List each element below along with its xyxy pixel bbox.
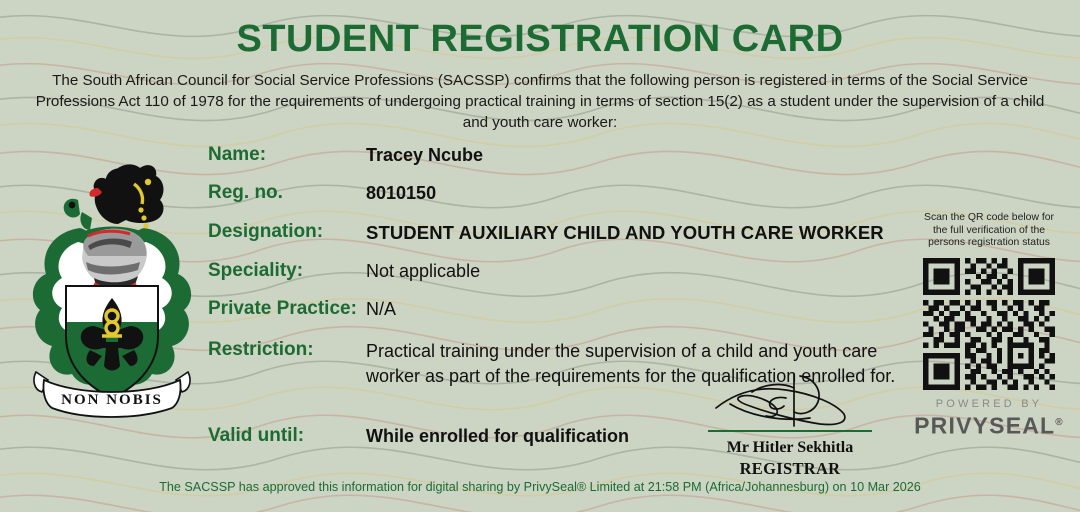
handwritten-signature-icon bbox=[690, 372, 890, 430]
signature-block: Mr Hitler Sekhitla REGISTRAR bbox=[690, 372, 890, 479]
field-value-name: Tracey Ncube bbox=[366, 145, 483, 166]
privyseal-wordmark: PRIVYSEAL bbox=[914, 412, 1055, 438]
registrar-name: Mr Hitler Sekhitla bbox=[690, 438, 890, 458]
footer-note: The SACSSP has approved this information… bbox=[0, 480, 1080, 494]
privyseal-logo: PRIVYSEAL® bbox=[905, 410, 1073, 439]
field-value-private-practice: N/A bbox=[366, 299, 396, 320]
field-label-name: Name: bbox=[208, 144, 266, 166]
qr-caption-line-3: persons registration status bbox=[910, 237, 1068, 250]
qr-code[interactable] bbox=[923, 258, 1055, 390]
field-row-designation: Designation: STUDENT AUXILIARY CHILD AND… bbox=[208, 221, 948, 260]
field-row-name: Name: Tracey Ncube bbox=[208, 144, 948, 182]
field-value-designation: STUDENT AUXILIARY CHILD AND YOUTH CARE W… bbox=[366, 222, 884, 244]
qr-verification-panel: Scan the QR code below for the full veri… bbox=[905, 212, 1073, 438]
qr-caption-line-2: the full verification of the bbox=[910, 225, 1068, 238]
signature-line bbox=[708, 430, 872, 432]
field-label-valid-until: Valid until: bbox=[208, 425, 304, 447]
field-row-speciality: Speciality: Not applicable bbox=[208, 260, 948, 298]
field-value-reg-no: 8010150 bbox=[366, 183, 436, 204]
field-value-speciality: Not applicable bbox=[366, 261, 480, 282]
student-registration-card: STUDENT REGISTRATION CARD The South Afri… bbox=[0, 0, 1080, 512]
powered-by-label: POWERED BY bbox=[905, 398, 1073, 410]
qr-caption-line-1: Scan the QR code below for bbox=[910, 212, 1068, 225]
field-row-private-practice: Private Practice: N/A bbox=[208, 298, 948, 339]
intro-paragraph: The South African Council for Social Ser… bbox=[30, 70, 1050, 133]
field-label-designation: Designation: bbox=[208, 221, 323, 243]
page-title: STUDENT REGISTRATION CARD bbox=[0, 18, 1080, 61]
field-label-restriction: Restriction: bbox=[208, 339, 314, 361]
sacssp-coat-of-arms-icon: NON NOBIS bbox=[22, 150, 202, 422]
field-label-speciality: Speciality: bbox=[208, 260, 303, 282]
field-label-reg-no: Reg. no. bbox=[208, 182, 283, 204]
field-label-private-practice: Private Practice: bbox=[208, 298, 357, 320]
field-value-valid-until: While enrolled for qualification bbox=[366, 426, 629, 447]
registered-trademark-icon: ® bbox=[1055, 417, 1064, 428]
field-row-reg-no: Reg. no. 8010150 bbox=[208, 182, 948, 221]
qr-caption: Scan the QR code below for the full veri… bbox=[910, 212, 1068, 250]
emblem-motto: NON NOBIS bbox=[61, 392, 163, 408]
registrar-title: REGISTRAR bbox=[690, 458, 890, 479]
